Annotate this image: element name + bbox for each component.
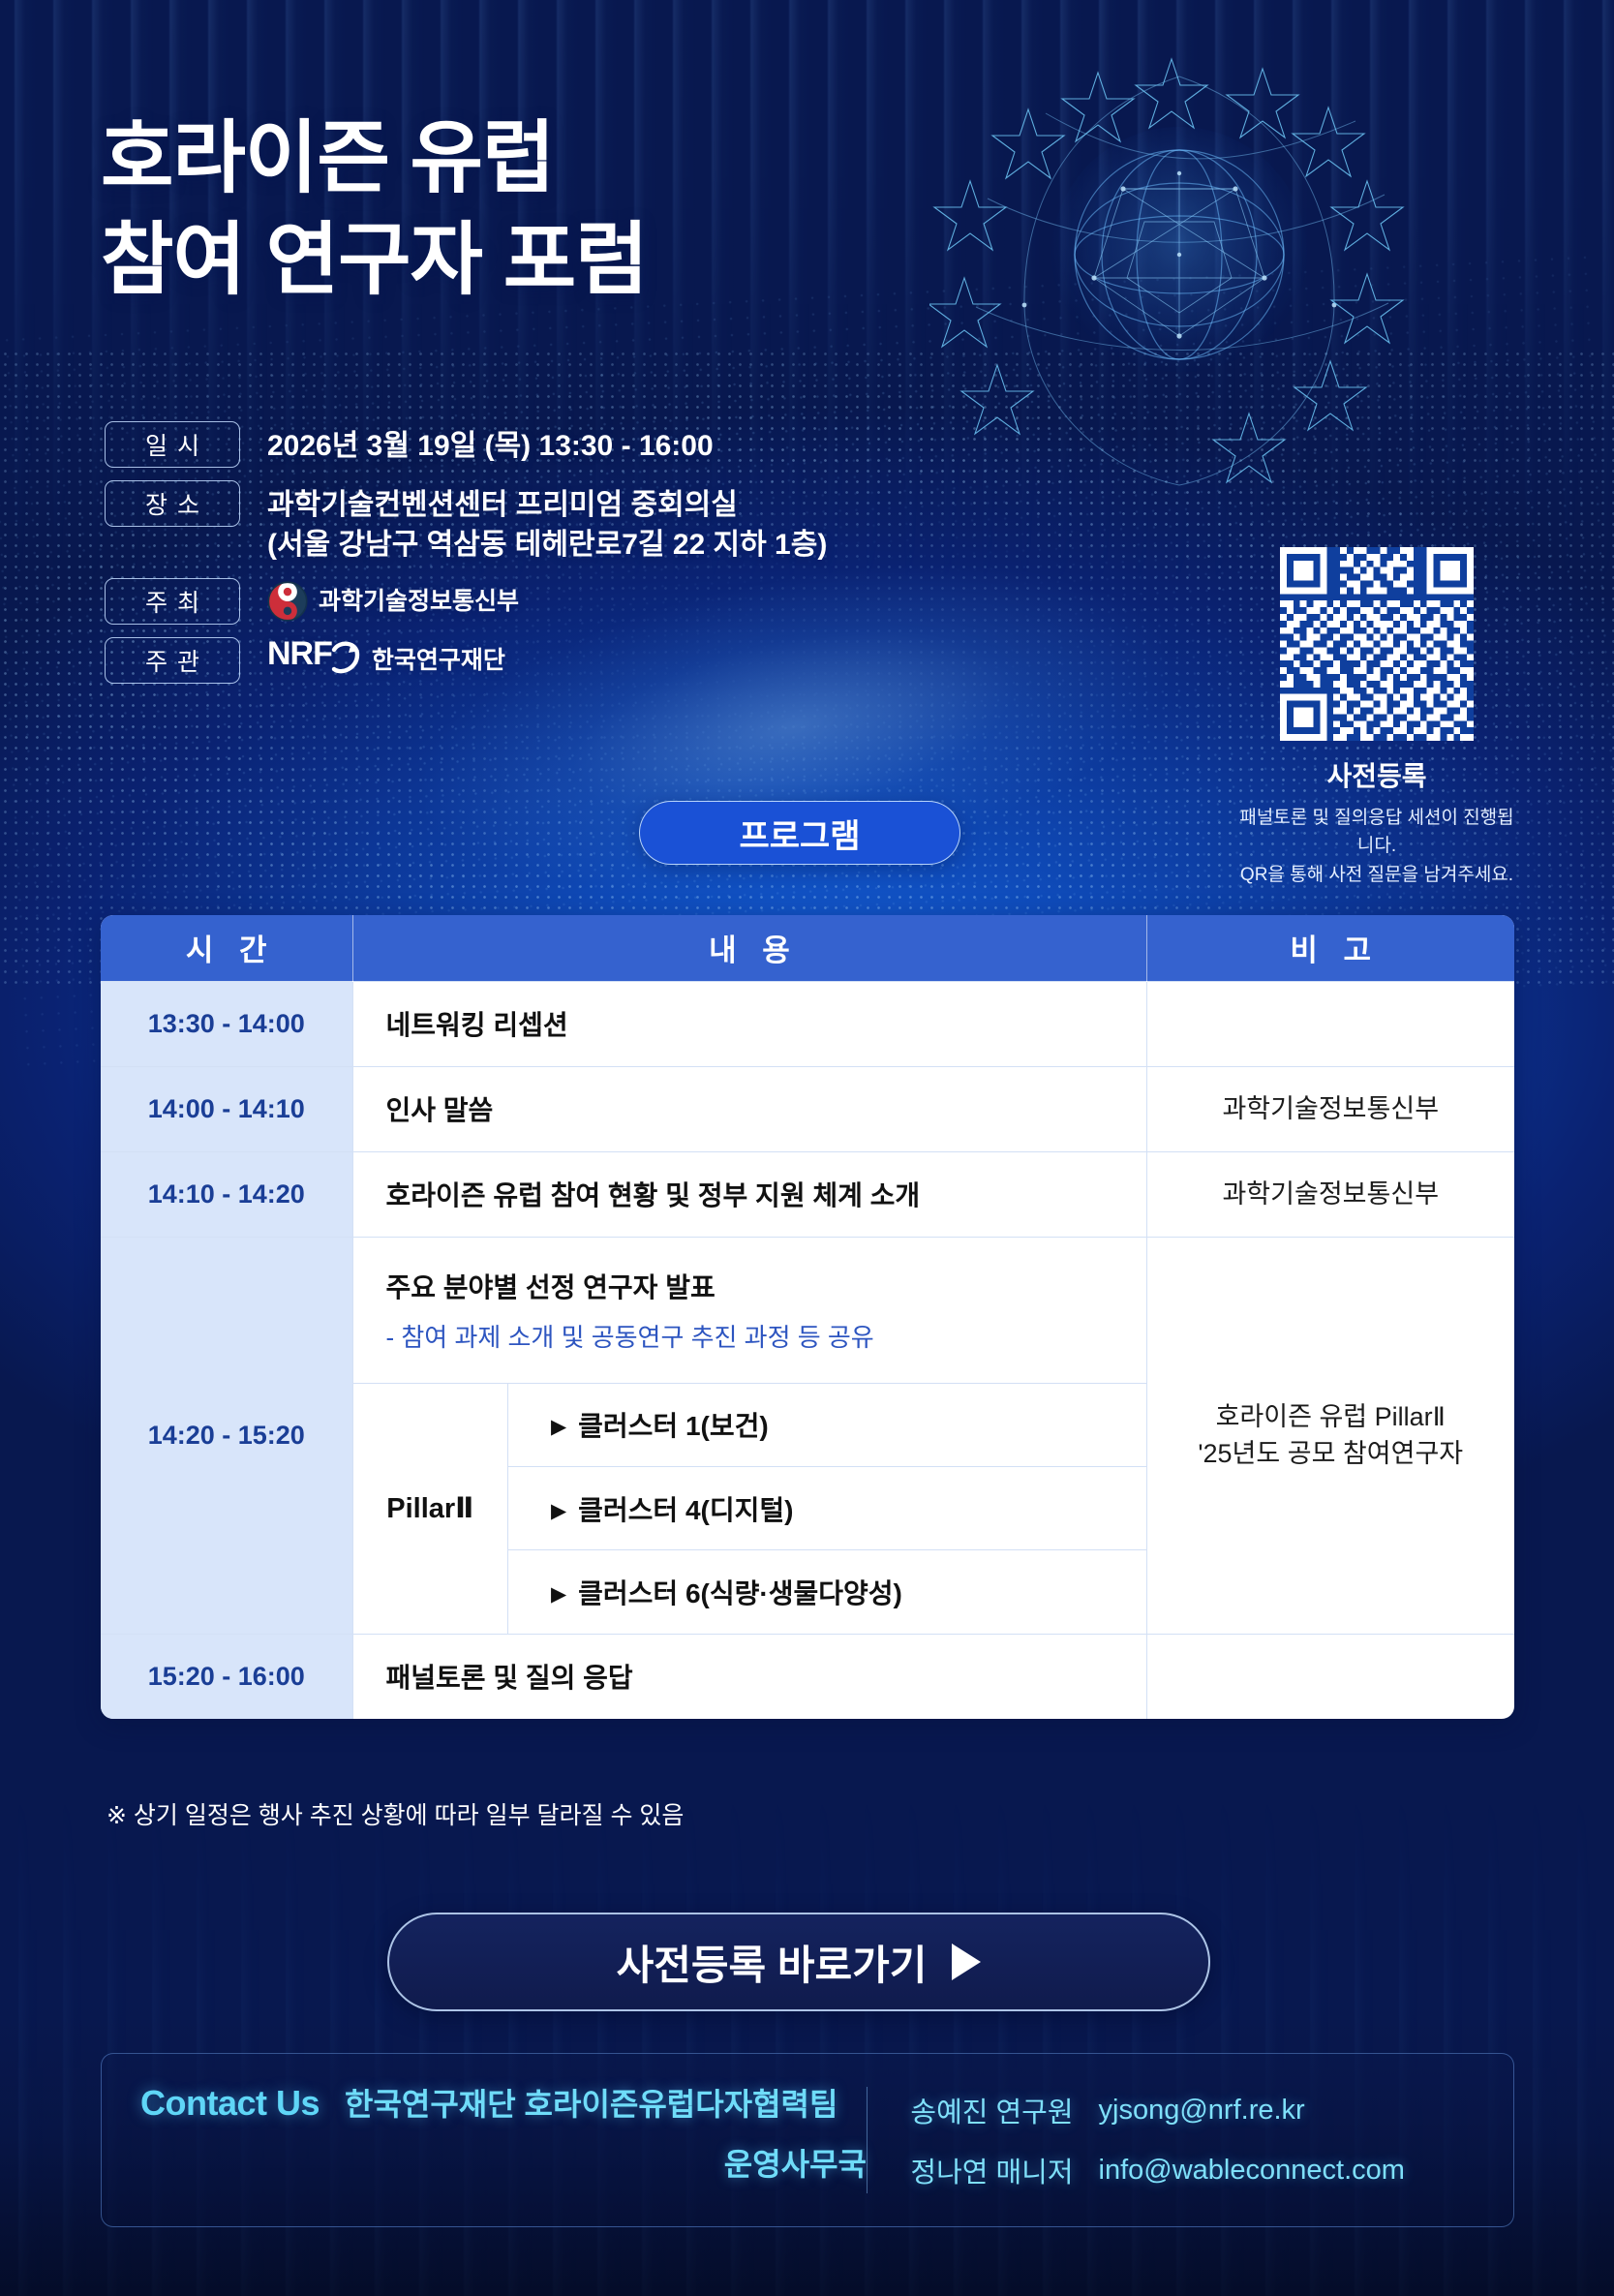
contact-us-label: Contact Us [140, 2083, 320, 2124]
table-row: 14:00 - 14:10 인사 말씀 과학기술정보통신부 [101, 1066, 1514, 1151]
nrf-logo: NRF [267, 644, 361, 677]
row-content: 패널토론 및 질의 응답 [352, 1634, 1146, 1719]
program-footnote: ※ 상기 일정은 행사 추진 상황에 따라 일부 달라질 수 있음 [107, 1796, 684, 1831]
pre-registration-qr-block[interactable]: 사전등록 패널토론 및 질의응답 세션이 진행됩니다. QR을 통해 사전 질문… [1232, 547, 1522, 889]
qr-note: 패널토론 및 질의응답 세션이 진행됩니다. QR을 통해 사전 질문을 남겨주… [1232, 804, 1522, 889]
remark-line-2: '25년도 공모 참여연구자 [1147, 1435, 1515, 1472]
qr-title: 사전등록 [1232, 755, 1522, 794]
row-remark: 과학기술정보통신부 [1146, 1066, 1514, 1151]
table-row: 15:20 - 16:00 패널토론 및 질의 응답 [101, 1634, 1514, 1719]
nrf-swoosh-icon [328, 640, 361, 677]
pre-registration-cta-button[interactable]: 사전등록 바로가기 [387, 1913, 1210, 2011]
table-header-row: 시 간 내 용 비 고 [101, 915, 1514, 981]
row-content: 네트워킹 리셉션 [352, 981, 1146, 1066]
row-remark: 과학기술정보통신부 [1146, 1151, 1514, 1237]
cluster-item: ▶클러스터 6(식량·생물다양성) [508, 1550, 1146, 1634]
program-table: 시 간 내 용 비 고 13:30 - 14:00 네트워킹 리셉션 14:00… [101, 915, 1514, 1719]
title-line-1: 호라이즌 유럽 [101, 108, 648, 210]
contact-org-line-2: 운영사무국 [724, 2140, 867, 2185]
pillar-label: PillarⅡ [353, 1384, 508, 1634]
triangle-bullet-icon: ▶ [551, 1583, 566, 1606]
nrf-wordmark: NRF [267, 631, 332, 676]
contact-person-2-email[interactable]: info@wableconnect.com [1099, 2155, 1405, 2187]
info-row-venue: 장소 과학기술컨벤션센터 프리미엄 중회의실 (서울 강남구 역삼동 테헤란로7… [105, 480, 937, 566]
row-time: 14:00 - 14:10 [101, 1066, 352, 1151]
triangle-bullet-icon: ▶ [551, 1416, 566, 1438]
column-header-time: 시 간 [101, 915, 352, 981]
table-row-pillar-block: 14:20 - 15:20 주요 분야별 선정 연구자 발표 - 참여 과제 소… [101, 1237, 1514, 1634]
event-info-block: 일시 2026년 3월 19일 (목) 13:30 - 16:00 장소 과학기… [105, 421, 937, 696]
poster-content: 호라이즌 유럽 참여 연구자 포럼 일시 2026년 3월 19일 (목) 13… [0, 0, 1614, 2296]
column-header-content: 내 용 [352, 915, 1146, 981]
table-row: 14:10 - 14:20 호라이즌 유럽 참여 현황 및 정부 지원 체계 소… [101, 1151, 1514, 1237]
host-organization-name: 과학기술정보통신부 [319, 585, 519, 618]
row-content-pillar: 주요 분야별 선정 연구자 발표 - 참여 과제 소개 및 공동연구 추진 과정… [352, 1237, 1146, 1634]
pillar-block-title: 주요 분야별 선정 연구자 발표 [386, 1267, 1146, 1305]
row-content: 인사 말씀 [352, 1066, 1146, 1151]
row-time: 14:10 - 14:20 [101, 1151, 352, 1237]
korea-government-taegeuk-logo [267, 581, 308, 622]
row-content: 호라이즌 유럽 참여 현황 및 정부 지원 체계 소개 [352, 1151, 1146, 1237]
contact-person-2-name: 정나연 매니저 [910, 2150, 1073, 2190]
row-remark [1146, 981, 1514, 1066]
contact-person-1-email[interactable]: yjsong@nrf.re.kr [1099, 2095, 1305, 2127]
row-time: 15:20 - 16:00 [101, 1634, 352, 1719]
row-time: 14:20 - 15:20 [101, 1237, 352, 1634]
info-value-venue: 과학기술컨벤션센터 프리미엄 중회의실 (서울 강남구 역삼동 테헤란로7길 2… [267, 480, 827, 566]
info-row-date: 일시 2026년 3월 19일 (목) 13:30 - 16:00 [105, 421, 937, 468]
qr-code[interactable] [1280, 547, 1474, 741]
program-section-pill: 프로그램 [639, 801, 960, 865]
remark-line-1: 호라이즌 유럽 PillarⅡ [1147, 1398, 1515, 1435]
info-row-organizer: 주관 NRF 한국연구재단 [105, 637, 937, 684]
info-value-date: 2026년 3월 19일 (목) 13:30 - 16:00 [267, 421, 714, 467]
row-remark-pillar: 호라이즌 유럽 PillarⅡ '25년도 공모 참여연구자 [1146, 1237, 1514, 1634]
contact-person-2: 정나연 매니저 info@wableconnect.com [910, 2140, 1405, 2200]
info-tag-venue: 장소 [105, 480, 240, 527]
title-line-2: 참여 연구자 포럼 [101, 210, 648, 312]
contact-person-1-name: 송예진 연구원 [910, 2090, 1073, 2130]
column-header-remark: 비 고 [1146, 915, 1514, 981]
qr-note-line-1: 패널토론 및 질의응답 세션이 진행됩니다. [1232, 804, 1522, 861]
triangle-bullet-icon: ▶ [551, 1500, 566, 1522]
row-remark [1146, 1634, 1514, 1719]
page-title: 호라이즌 유럽 참여 연구자 포럼 [101, 108, 648, 312]
contact-person-1: 송예진 연구원 yjsong@nrf.re.kr [910, 2080, 1405, 2140]
info-row-host: 주최 과학기술정보통신부 [105, 578, 937, 625]
cta-label: 사전등록 바로가기 [617, 1933, 928, 1992]
table-row: 13:30 - 14:00 네트워킹 리셉션 [101, 981, 1514, 1066]
info-tag-host: 주최 [105, 578, 240, 625]
info-tag-date: 일시 [105, 421, 240, 468]
contact-org-line-1: 한국연구재단 호라이즌유럽다자협력팀 [345, 2080, 837, 2125]
qr-note-line-2: QR을 통해 사전 질문을 남겨주세요. [1232, 861, 1522, 889]
pillar-block-subnote: - 참여 과제 소개 및 공동연구 추진 과정 등 공유 [386, 1318, 1146, 1354]
contact-section: Contact Us 한국연구재단 호라이즌유럽다자협력팀 운영사무국 송예진 … [101, 2053, 1514, 2227]
play-triangle-icon [952, 1944, 981, 1980]
info-tag-organizer: 주관 [105, 637, 240, 684]
row-time: 13:30 - 14:00 [101, 981, 352, 1066]
cluster-item: ▶클러스터 1(보건) [508, 1384, 1146, 1467]
cluster-item: ▶클러스터 4(디지털) [508, 1467, 1146, 1550]
organizer-organization-name: 한국연구재단 [372, 644, 505, 677]
